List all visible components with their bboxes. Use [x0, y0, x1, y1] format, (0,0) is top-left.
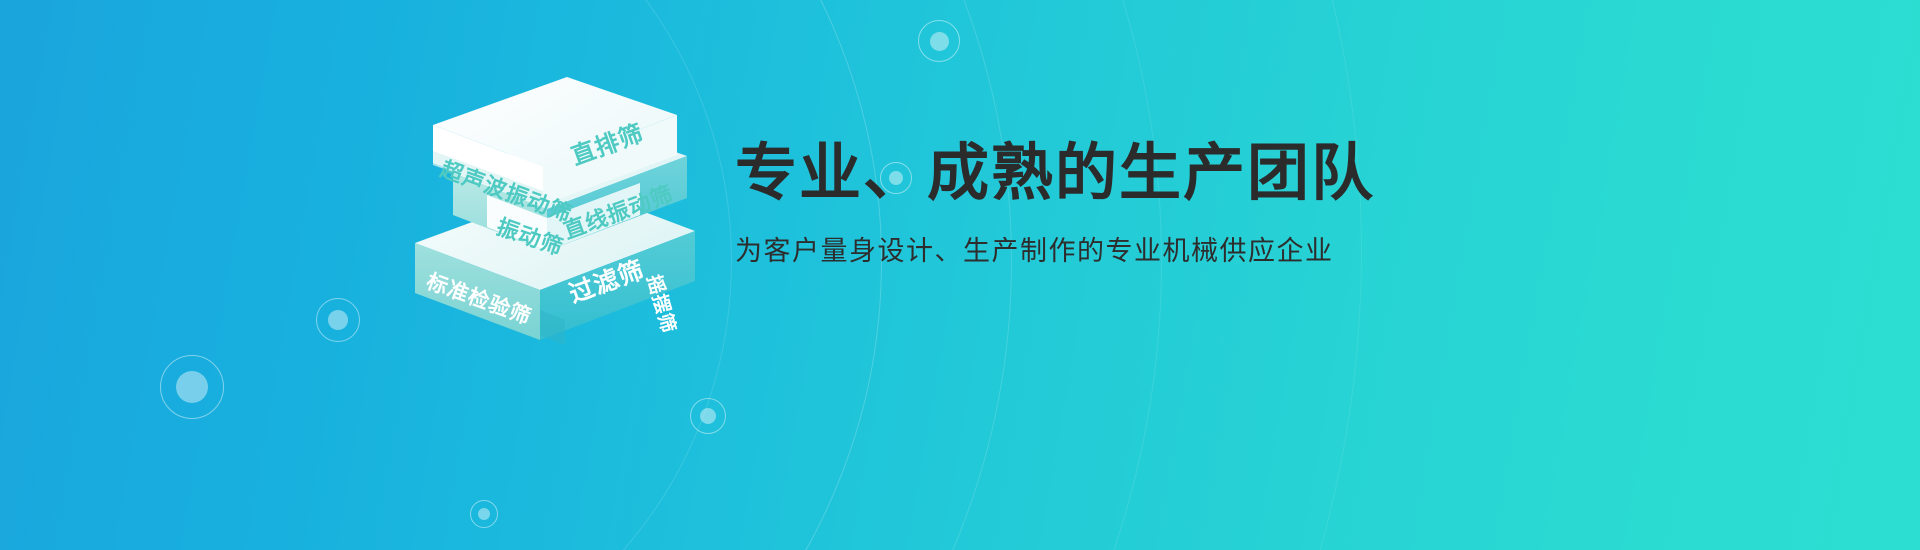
product-cube-illustration: 标准检验筛 过滤筛 摇摆筛 振动筛 直线振动筛 超声波振动筛 直排筛 [395, 55, 725, 345]
node-dot-2 [316, 298, 360, 342]
node-dot-6 [470, 500, 498, 528]
node-dot-1 [160, 355, 224, 419]
page-subtitle: 为客户量身设计、生产制作的专业机械供应企业 [735, 229, 1375, 268]
page-title: 专业、成熟的生产团队 [735, 138, 1375, 207]
hero-banner: 标准检验筛 过滤筛 摇摆筛 振动筛 直线振动筛 超声波振动筛 直排筛 专业、成熟… [0, 0, 1920, 550]
banner-copy: 专业、成熟的生产团队 为客户量身设计、生产制作的专业机械供应企业 [735, 138, 1375, 268]
background-decoration [0, 0, 1920, 550]
node-dot-3 [690, 398, 726, 434]
node-dot-4 [918, 20, 960, 62]
